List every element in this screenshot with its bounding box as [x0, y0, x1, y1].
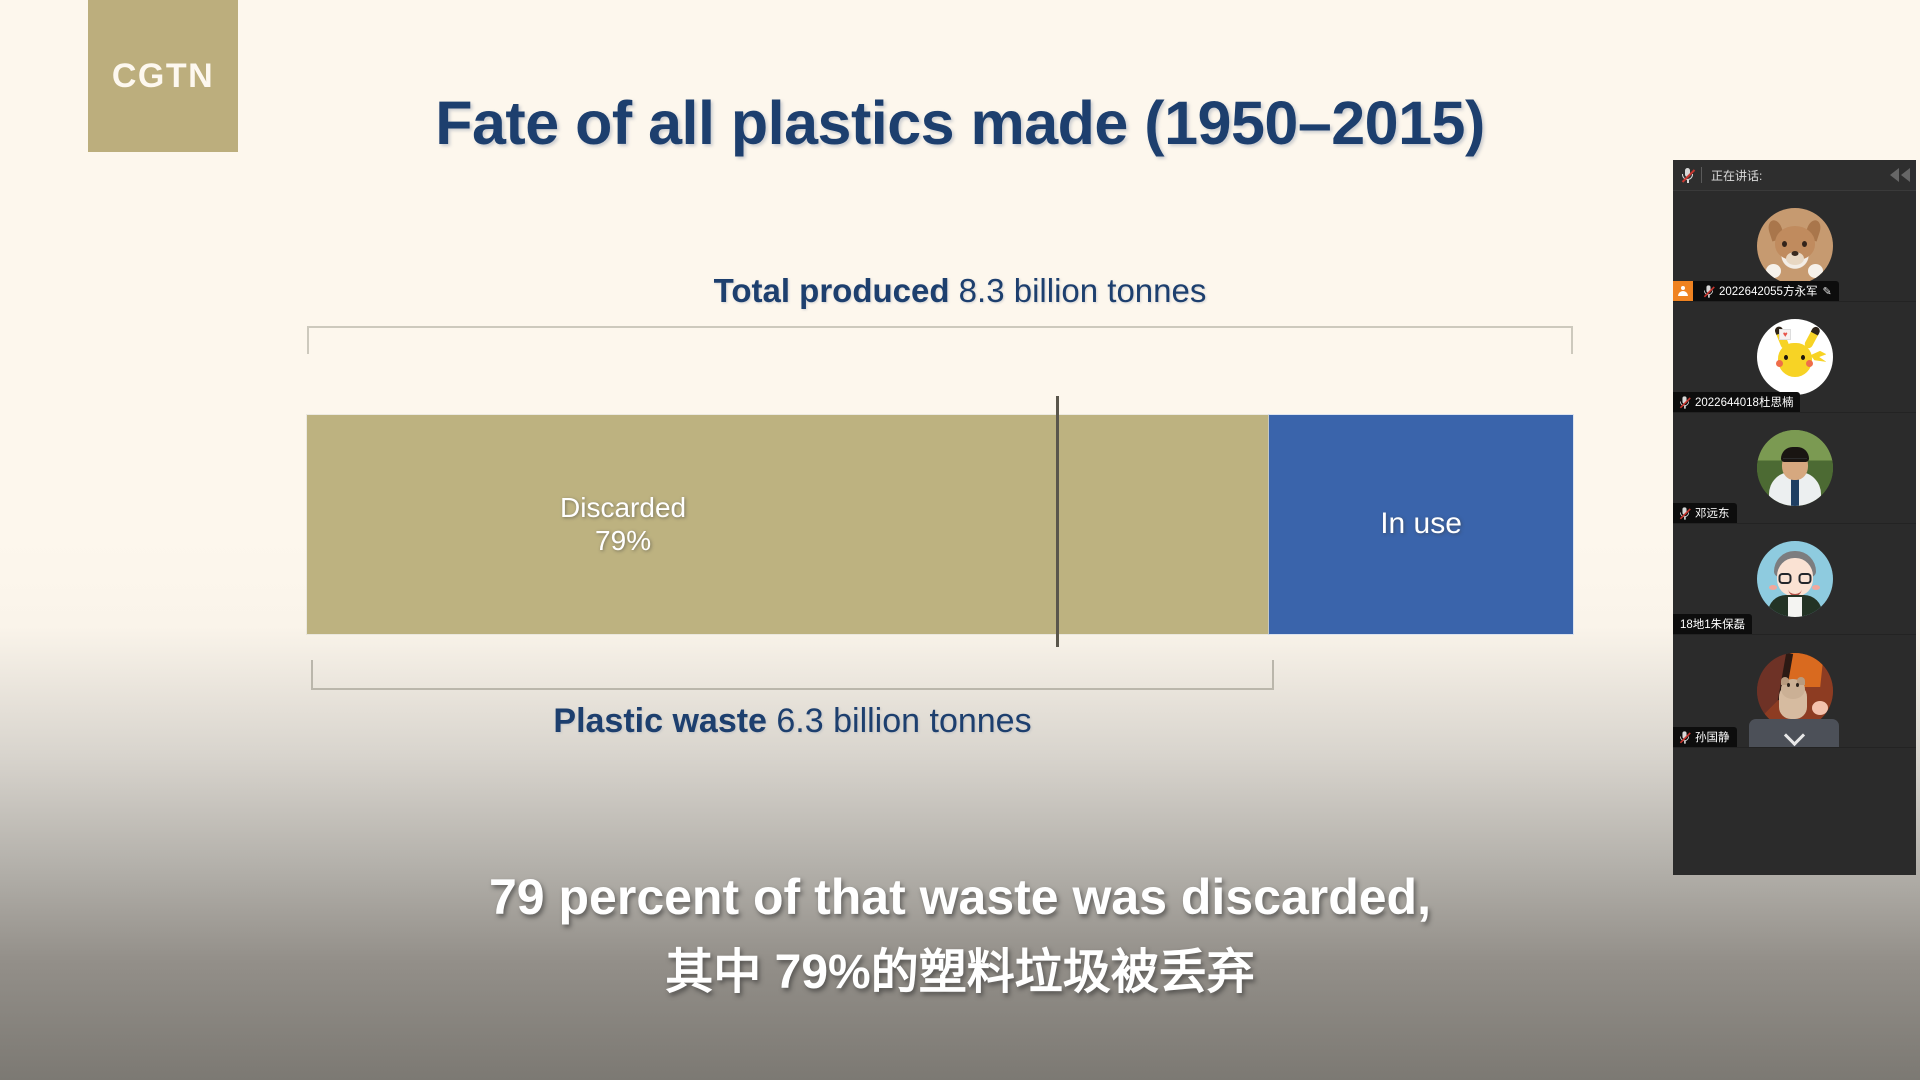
page-title: Fate of all plastics made (1950–2015): [0, 88, 1920, 158]
avatar: [1757, 430, 1833, 506]
subtitle-chinese: 其中 79%的塑料垃圾被丢弃: [0, 932, 1920, 1002]
participant-name: 2022642055方永军: [1719, 283, 1817, 299]
total-produced-bracket: [307, 326, 1573, 354]
avatar: ♥: [1757, 319, 1833, 395]
participant-name-badge: 孙国静: [1673, 727, 1737, 747]
plastic-waste-bracket: [311, 660, 1274, 690]
bar-segment-in-use: In use: [1269, 415, 1573, 634]
total-produced-caption: Total produced 8.3 billion tonnes: [0, 272, 1920, 310]
participant-name: 邓远东: [1695, 505, 1730, 521]
plastic-waste-value: 6.3 billion tonnes: [767, 702, 1032, 740]
heart-icon: ♥: [1779, 329, 1791, 340]
waste-divider-line: [1056, 396, 1059, 647]
total-produced-label: Total produced: [714, 272, 950, 309]
subtitle-english: 79 percent of that waste was discarded,: [0, 868, 1920, 926]
subtitle-block: 79 percent of that waste was discarded, …: [0, 868, 1920, 1002]
rename-pencil-icon[interactable]: ✎: [1822, 285, 1831, 298]
stacked-bar-chart: Discarded 79% In use: [307, 415, 1573, 634]
scroll-down-button[interactable]: [1749, 719, 1839, 747]
panel-header: 正在讲话:: [1673, 160, 1916, 191]
collapse-arrows-icon[interactable]: [1890, 168, 1910, 182]
participant-name-badge: 邓远东: [1673, 503, 1737, 523]
participant-name-badge: 18地1朱保磊: [1673, 614, 1752, 634]
participant-name: 孙国静: [1695, 729, 1730, 745]
participant-tile[interactable]: ♥ 2022644018杜思楠: [1673, 302, 1916, 413]
discarded-label-group: Discarded 79%: [560, 492, 686, 556]
header-divider: [1701, 167, 1702, 183]
plastic-waste-label: Plastic waste: [553, 702, 767, 740]
mic-off-icon: [1679, 730, 1690, 744]
participant-tile[interactable]: 18地1朱保磊: [1673, 524, 1916, 635]
participant-tile[interactable]: 2022642055方永军 ✎: [1673, 191, 1916, 302]
mic-off-icon: [1703, 284, 1714, 298]
host-icon: [1673, 281, 1693, 301]
plastic-waste-caption: Plastic waste 6.3 billion tonnes: [311, 702, 1274, 741]
presentation-slide: CGTN Fate of all plastics made (1950–201…: [0, 0, 1920, 1080]
avatar: [1757, 541, 1833, 617]
discarded-value: 79%: [560, 525, 686, 557]
participant-tile[interactable]: 邓远东: [1673, 413, 1916, 524]
mic-off-icon: [1679, 506, 1690, 520]
discarded-label: Discarded: [560, 492, 686, 524]
chevron-down-icon: [1785, 724, 1803, 742]
bar-segment-discarded: Discarded 79%: [307, 415, 1269, 634]
total-produced-value: 8.3 billion tonnes: [950, 272, 1207, 309]
participant-name-badge: 2022644018杜思楠: [1673, 392, 1800, 412]
in-use-label: In use: [1380, 507, 1462, 542]
participant-name: 18地1朱保磊: [1680, 616, 1745, 632]
avatar: [1757, 653, 1833, 729]
speaking-label: 正在讲话:: [1711, 167, 1762, 184]
participant-name-badge: 2022642055方永军 ✎: [1673, 281, 1839, 301]
mic-off-icon: [1679, 395, 1690, 409]
video-participants-panel[interactable]: 正在讲话: 2022642055方永军 ✎ ♥: [1673, 160, 1916, 875]
participant-name: 2022644018杜思楠: [1695, 394, 1793, 410]
avatar: [1757, 208, 1833, 284]
participant-tile[interactable]: 孙国静: [1673, 635, 1916, 748]
mic-off-icon: [1681, 167, 1694, 184]
